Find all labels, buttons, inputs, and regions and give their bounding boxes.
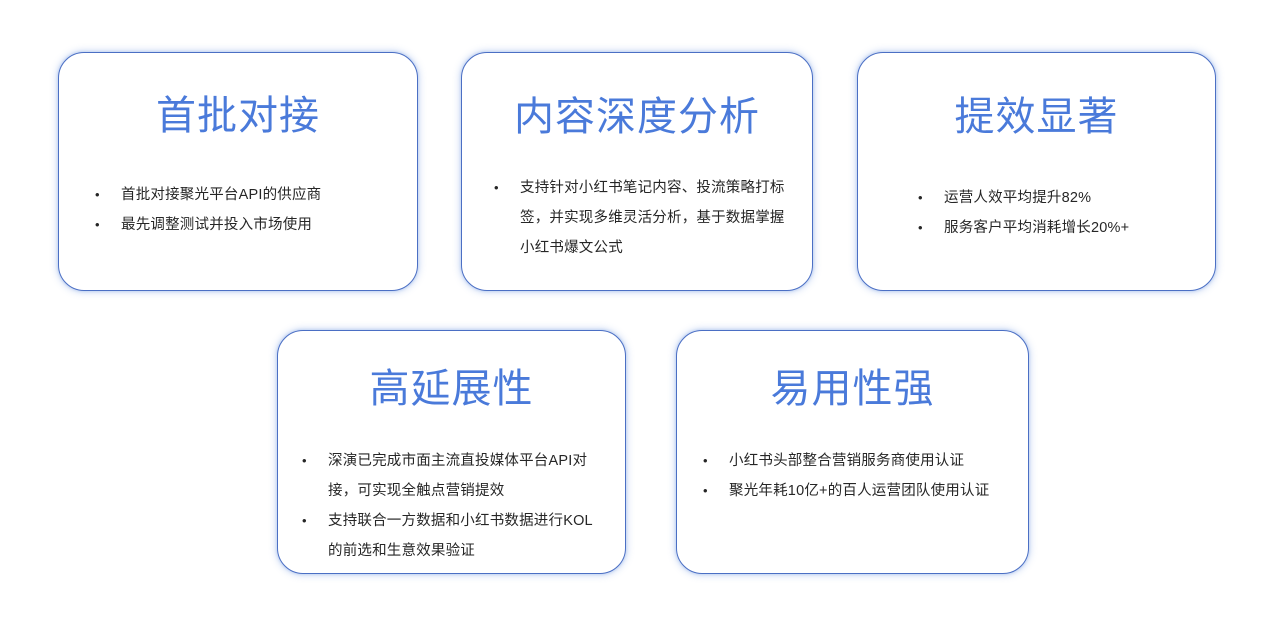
list-item: • 运营人效平均提升82%	[918, 183, 1197, 213]
bullet-icon: •	[302, 506, 328, 536]
card-bullet-list: • 首批对接聚光平台API的供应商 • 最先调整测试并投入市场使用	[59, 180, 417, 240]
list-item-text: 支持针对小红书笔记内容、投流策略打标签，并实现多维灵活分析，基于数据掌握小红书爆…	[520, 173, 790, 263]
bullet-icon: •	[95, 210, 121, 240]
feature-card-first-integration: 首批对接 • 首批对接聚光平台API的供应商 • 最先调整测试并投入市场使用	[58, 52, 418, 291]
feature-card-efficiency-gain: 提效显著 • 运营人效平均提升82% • 服务客户平均消耗增长20%+	[857, 52, 1216, 291]
feature-card-board: 首批对接 • 首批对接聚光平台API的供应商 • 最先调整测试并投入市场使用 内…	[0, 0, 1280, 625]
card-title: 提效显著	[955, 95, 1119, 139]
list-item-text: 运营人效平均提升82%	[944, 183, 1197, 213]
card-bullet-list: • 深演已完成市面主流直投媒体平台API对接，可实现全触点营销提效 • 支持联合…	[278, 446, 625, 566]
bullet-icon: •	[95, 180, 121, 210]
list-item-text: 首批对接聚光平台API的供应商	[121, 180, 397, 210]
list-item: • 聚光年耗10亿+的百人运营团队使用认证	[703, 476, 1010, 506]
list-item: • 服务客户平均消耗增长20%+	[918, 213, 1197, 243]
bullet-icon: •	[703, 476, 729, 506]
bullet-icon: •	[918, 213, 944, 243]
feature-card-content-depth-analysis: 内容深度分析 • 支持针对小红书笔记内容、投流策略打标签，并实现多维灵活分析，基…	[461, 52, 813, 291]
list-item-text: 支持联合一方数据和小红书数据进行KOL的前选和生意效果验证	[328, 506, 607, 566]
card-title: 易用性强	[771, 367, 935, 411]
feature-card-high-extensibility: 高延展性 • 深演已完成市面主流直投媒体平台API对接，可实现全触点营销提效 •…	[277, 330, 626, 574]
list-item-text: 深演已完成市面主流直投媒体平台API对接，可实现全触点营销提效	[328, 446, 607, 506]
card-title: 首批对接	[156, 94, 320, 138]
list-item: • 最先调整测试并投入市场使用	[95, 210, 397, 240]
card-title: 内容深度分析	[514, 95, 760, 139]
list-item: • 小红书头部整合营销服务商使用认证	[703, 446, 1010, 476]
feature-card-ease-of-use: 易用性强 • 小红书头部整合营销服务商使用认证 • 聚光年耗10亿+的百人运营团…	[676, 330, 1029, 574]
list-item-text: 小红书头部整合营销服务商使用认证	[729, 446, 1010, 476]
list-item: • 支持联合一方数据和小红书数据进行KOL的前选和生意效果验证	[302, 506, 607, 566]
bullet-icon: •	[918, 183, 944, 213]
bullet-icon: •	[494, 173, 520, 203]
list-item-text: 最先调整测试并投入市场使用	[121, 210, 397, 240]
bullet-icon: •	[703, 446, 729, 476]
list-item-text: 服务客户平均消耗增长20%+	[944, 213, 1197, 243]
card-title: 高延展性	[370, 367, 534, 411]
list-item: • 支持针对小红书笔记内容、投流策略打标签，并实现多维灵活分析，基于数据掌握小红…	[494, 173, 790, 263]
list-item: • 首批对接聚光平台API的供应商	[95, 180, 397, 210]
bullet-icon: •	[302, 446, 328, 476]
list-item-text: 聚光年耗10亿+的百人运营团队使用认证	[729, 476, 1010, 506]
card-bullet-list: • 小红书头部整合营销服务商使用认证 • 聚光年耗10亿+的百人运营团队使用认证	[677, 446, 1028, 506]
list-item: • 深演已完成市面主流直投媒体平台API对接，可实现全触点营销提效	[302, 446, 607, 506]
card-bullet-list: • 运营人效平均提升82% • 服务客户平均消耗增长20%+	[858, 183, 1215, 243]
card-bullet-list: • 支持针对小红书笔记内容、投流策略打标签，并实现多维灵活分析，基于数据掌握小红…	[462, 173, 812, 263]
